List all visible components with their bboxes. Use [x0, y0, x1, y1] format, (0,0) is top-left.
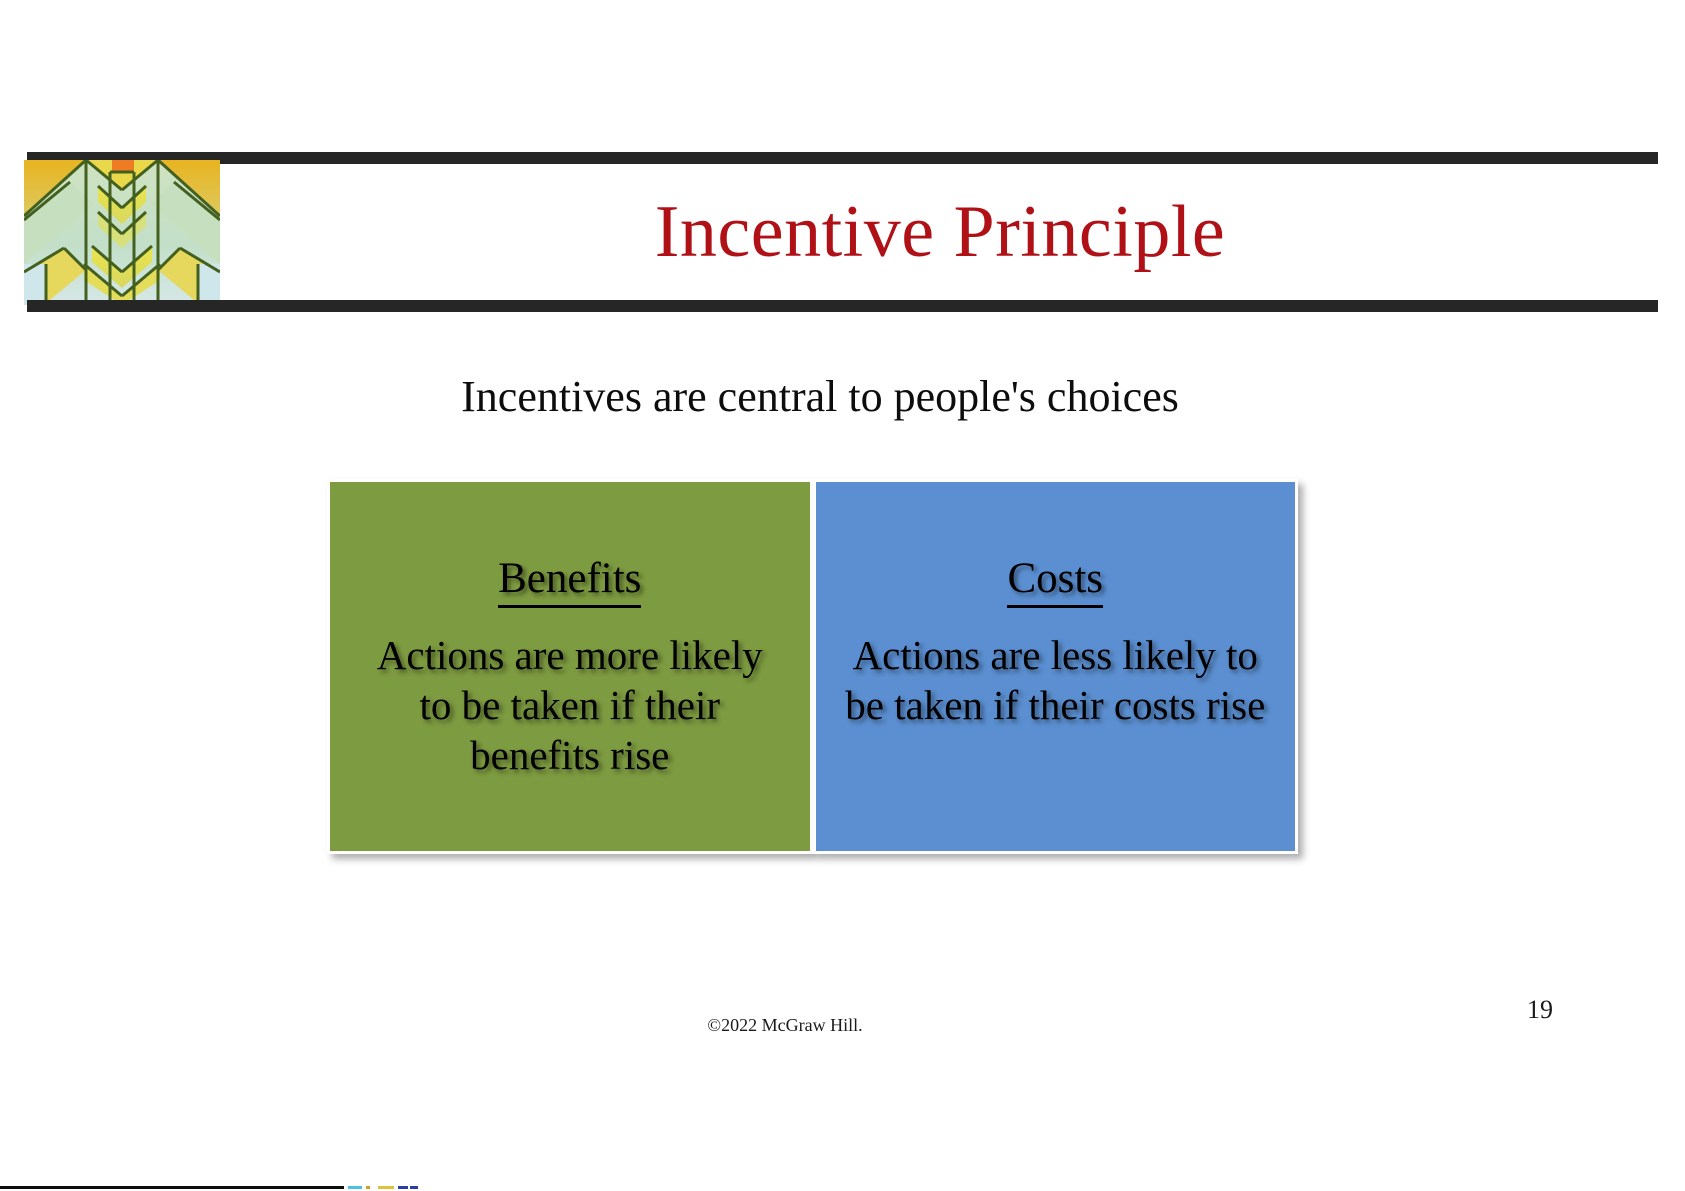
bottom-edge-fragment: [378, 1186, 394, 1189]
copyright-notice: ©2022 McGraw Hill.: [0, 1014, 1570, 1036]
page-title: Incentive Principle: [230, 190, 1650, 274]
concept-box-costs: Costs Actions are less likely to be take…: [813, 479, 1299, 854]
header-rule-top: [27, 152, 1658, 164]
bottom-edge-fragment: [348, 1186, 362, 1189]
concept-body-costs: Actions are less likely to be taken if t…: [838, 630, 1274, 730]
concept-box-benefits: Benefits Actions are more likely to be t…: [327, 479, 813, 854]
concept-heading-costs: Costs: [1007, 554, 1103, 608]
stained-glass-decoration-icon: [24, 160, 220, 305]
slide-subtitle: Incentives are central to people's choic…: [120, 370, 1520, 424]
slide-number: 19: [1527, 995, 1587, 1025]
bottom-edge-fragment: [366, 1186, 370, 1189]
concept-body-benefits: Actions are more likely to be taken if t…: [352, 630, 788, 780]
concept-box-group: Benefits Actions are more likely to be t…: [327, 479, 1298, 854]
slide-canvas: Incentive Principle Incentives are centr…: [0, 0, 1685, 1191]
concept-heading-benefits: Benefits: [498, 554, 641, 608]
bottom-edge-rule: [0, 1186, 344, 1189]
bottom-edge-fragment: [398, 1186, 408, 1189]
bottom-edge-fragment: [410, 1186, 418, 1189]
header-rule-bottom: [27, 300, 1658, 312]
